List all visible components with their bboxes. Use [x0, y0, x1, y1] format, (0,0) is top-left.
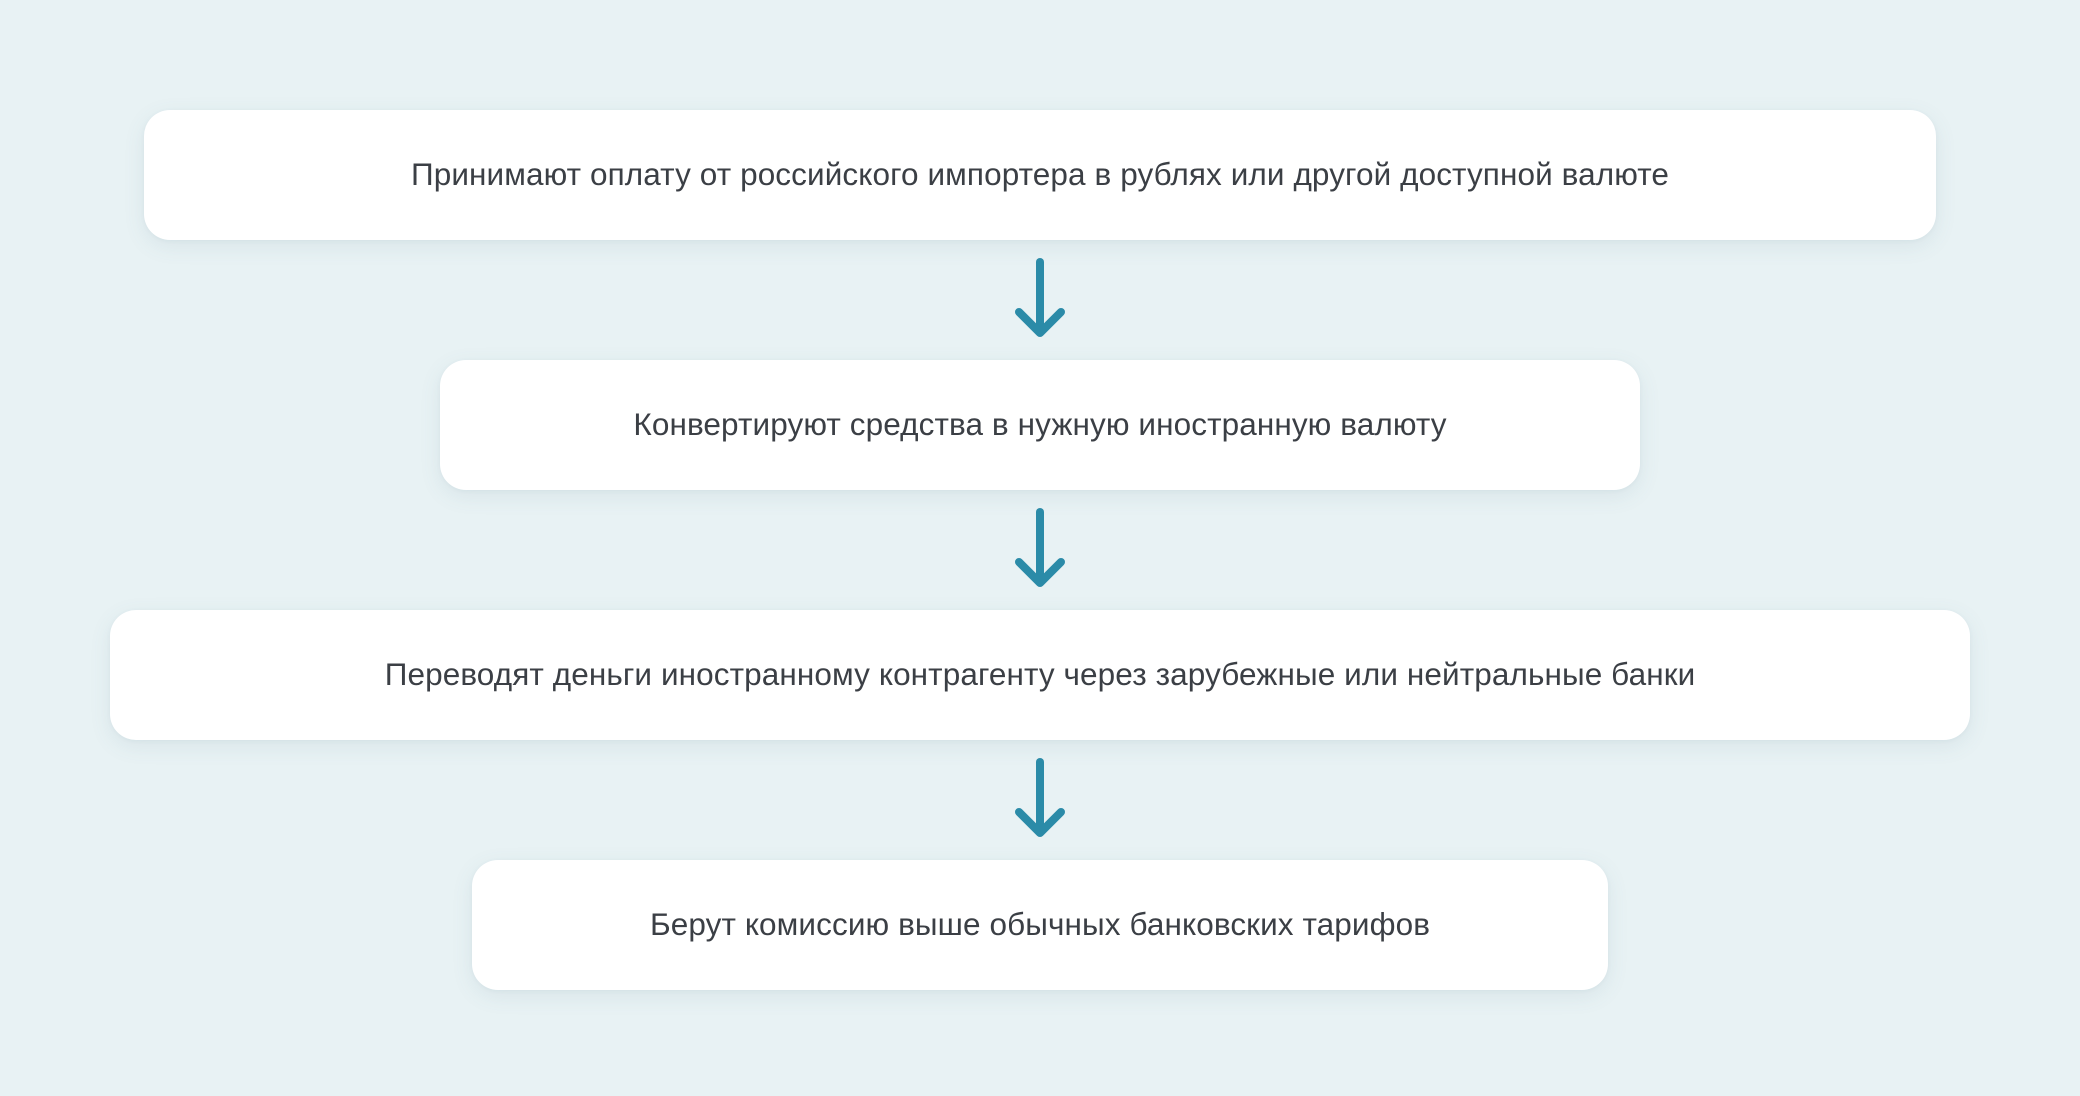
flow-connector-2 [1010, 490, 1070, 610]
arrow-down-icon [1013, 759, 1067, 841]
flow-connector-3 [1010, 740, 1070, 860]
flow-connector-1 [1010, 240, 1070, 360]
flow-node-3: Переводят деньги иностранному контрагент… [110, 610, 1970, 740]
flowchart-container: Принимают оплату от российского импортер… [0, 0, 2080, 1096]
flow-node-1: Принимают оплату от российского импортер… [144, 110, 1936, 240]
flow-node-2-label: Конвертируют средства в нужную иностранн… [633, 405, 1446, 444]
flow-node-2: Конвертируют средства в нужную иностранн… [440, 360, 1640, 490]
flow-node-3-label: Переводят деньги иностранному контрагент… [385, 655, 1696, 694]
flow-node-4: Берут комиссию выше обычных банковских т… [472, 860, 1608, 990]
arrow-down-icon [1013, 509, 1067, 591]
arrow-down-icon [1013, 259, 1067, 341]
flow-node-1-label: Принимают оплату от российского импортер… [411, 155, 1669, 194]
flow-node-4-label: Берут комиссию выше обычных банковских т… [650, 905, 1430, 944]
